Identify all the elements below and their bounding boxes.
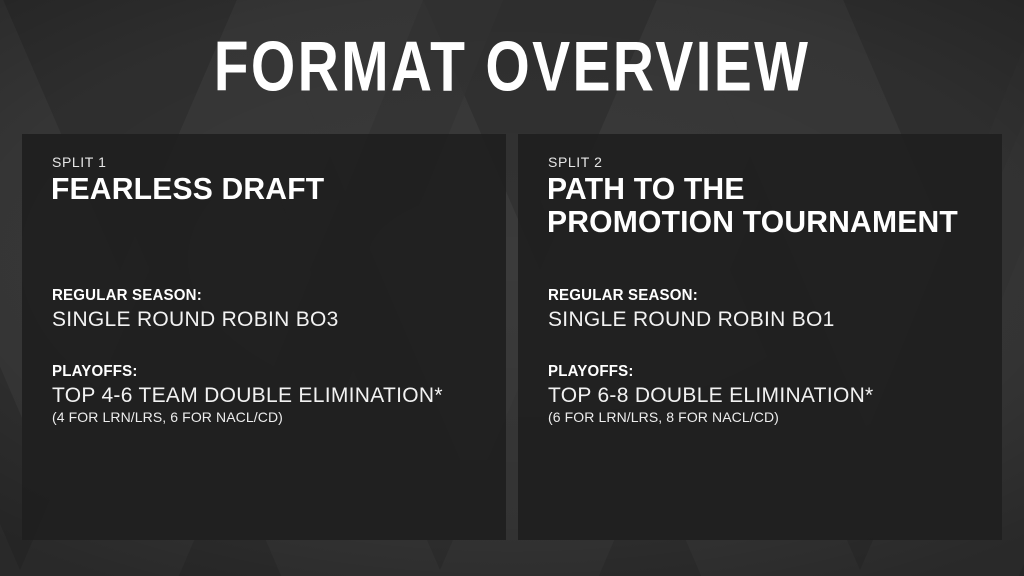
- section-regular-season-1: REGULAR SEASON: SINGLE ROUND ROBIN BO3: [52, 286, 496, 333]
- panel-heading-2-line2: PROMOTION TOURNAMENT: [547, 205, 958, 238]
- panel-heading-2-line1: PATH TO THE: [547, 172, 958, 205]
- panel-split-2: SPLIT 2 PATH TO THE PROMOTION TOURNAMENT…: [518, 134, 1002, 540]
- panel-heading-2: PATH TO THE PROMOTION TOURNAMENT: [547, 172, 958, 238]
- slide-canvas: FORMAT OVERVIEW SPLIT 1 FEARLESS DRAFT R…: [0, 0, 1024, 576]
- section-value: SINGLE ROUND ROBIN BO1: [548, 307, 992, 333]
- section-label: PLAYOFFS:: [52, 362, 469, 381]
- section-playoffs-1: PLAYOFFS: TOP 4-6 TEAM DOUBLE ELIMINATIO…: [52, 362, 496, 426]
- section-label: REGULAR SEASON:: [548, 286, 965, 305]
- section-regular-season-2: REGULAR SEASON: SINGLE ROUND ROBIN BO1: [548, 286, 992, 333]
- panel-heading-1-line1: FEARLESS DRAFT: [51, 171, 324, 206]
- section-label: PLAYOFFS:: [548, 362, 965, 381]
- section-playoffs-2: PLAYOFFS: TOP 6-8 DOUBLE ELIMINATION* (6…: [548, 362, 992, 426]
- page-title: FORMAT OVERVIEW: [41, 33, 983, 103]
- section-value: TOP 6-8 DOUBLE ELIMINATION*: [548, 383, 992, 409]
- section-value: TOP 4-6 TEAM DOUBLE ELIMINATION*: [52, 383, 496, 409]
- panel-heading-1: FEARLESS DRAFT: [51, 172, 324, 205]
- section-label: REGULAR SEASON:: [52, 286, 469, 305]
- section-note: (4 FOR LRN/LRS, 6 FOR NACL/CD): [52, 409, 496, 426]
- split-label-2: SPLIT 2: [548, 154, 603, 170]
- panel-split-1: SPLIT 1 FEARLESS DRAFT REGULAR SEASON: S…: [22, 134, 506, 540]
- split-label-1: SPLIT 1: [52, 154, 107, 170]
- section-value: SINGLE ROUND ROBIN BO3: [52, 307, 496, 333]
- section-note: (6 FOR LRN/LRS, 8 FOR NACL/CD): [548, 409, 992, 426]
